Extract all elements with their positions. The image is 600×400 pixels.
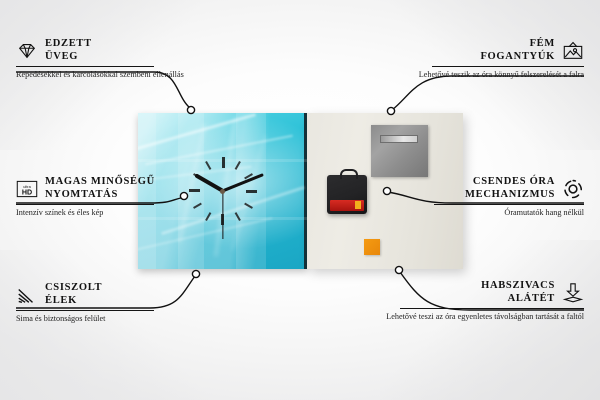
callout-title: FÉMFOGANTYÚK bbox=[480, 38, 555, 63]
connector-handles bbox=[392, 76, 584, 110]
callout-rule bbox=[434, 204, 584, 205]
callout-rule bbox=[400, 308, 584, 309]
clock-mechanism bbox=[327, 175, 367, 214]
callout-tempered-glass: EDZETTÜVEG Repedésekkel és karcolásokkal… bbox=[16, 38, 216, 81]
vignette-bottom-left bbox=[0, 250, 210, 400]
callout-desc: Lehetővé teszi az óra egyenletes távolsá… bbox=[384, 312, 584, 323]
callout-desc: Óramutatók hang nélkül bbox=[384, 208, 584, 219]
callout-desc: Repedésekkel és karcolásokkal szembeni e… bbox=[16, 70, 216, 81]
battery-terminal bbox=[355, 201, 361, 209]
hanger-slot bbox=[380, 135, 418, 143]
callout-desc: Lehetővé teszik az óra könnyű felszerelé… bbox=[384, 70, 584, 81]
callout-high-quality-print: ultra HD MAGAS MINŐSÉGŰNYOMTATÁS Intenzí… bbox=[16, 176, 216, 219]
foam-pad-arrow-icon bbox=[562, 282, 584, 304]
infographic-canvas: EDZETTÜVEG Repedésekkel és karcolásokkal… bbox=[0, 0, 600, 400]
callout-title: EDZETTÜVEG bbox=[45, 38, 92, 63]
battery bbox=[330, 200, 364, 211]
callout-foam-pad: HABSZIVACSALÁTÉT Lehetővé teszi az óra e… bbox=[384, 280, 584, 323]
gear-icon bbox=[562, 178, 584, 200]
callout-desc: Intenzív színek és éles kép bbox=[16, 208, 216, 219]
clock-center-cap bbox=[220, 189, 225, 194]
connector-dot-edges bbox=[192, 270, 199, 277]
callout-polished-edges: CSISZOLTÉLEK Sima és biztonságos felület bbox=[16, 282, 216, 325]
callout-rule bbox=[16, 66, 154, 67]
metal-hanger-plate bbox=[371, 125, 428, 177]
callout-rule bbox=[432, 66, 584, 67]
clock-second-hand bbox=[222, 191, 223, 239]
callout-metal-handles: FÉMFOGANTYÚK Lehetővé teszik az óra könn… bbox=[384, 38, 584, 81]
callout-title: CSENDES ÓRAMECHANIZMUS bbox=[465, 176, 555, 201]
diamond-icon bbox=[16, 40, 38, 62]
callout-quiet-mechanism: CSENDES ÓRAMECHANIZMUS Óramutatók hang n… bbox=[384, 176, 584, 219]
picture-frame-icon bbox=[562, 40, 584, 62]
polished-edges-icon bbox=[16, 284, 38, 306]
ultra-hd-icon: ultra HD bbox=[16, 178, 38, 200]
svg-text:HD: HD bbox=[22, 188, 32, 196]
callout-rule bbox=[16, 310, 154, 311]
callout-title: CSISZOLTÉLEK bbox=[45, 282, 102, 307]
callout-title: HABSZIVACSALÁTÉT bbox=[481, 280, 555, 305]
mechanism-bail bbox=[340, 169, 358, 179]
foam-spacer-pad bbox=[364, 239, 380, 255]
callout-rule bbox=[16, 204, 154, 205]
callout-desc: Sima és biztonságos felület bbox=[16, 314, 216, 325]
callout-title: MAGAS MINŐSÉGŰNYOMTATÁS bbox=[45, 176, 155, 201]
